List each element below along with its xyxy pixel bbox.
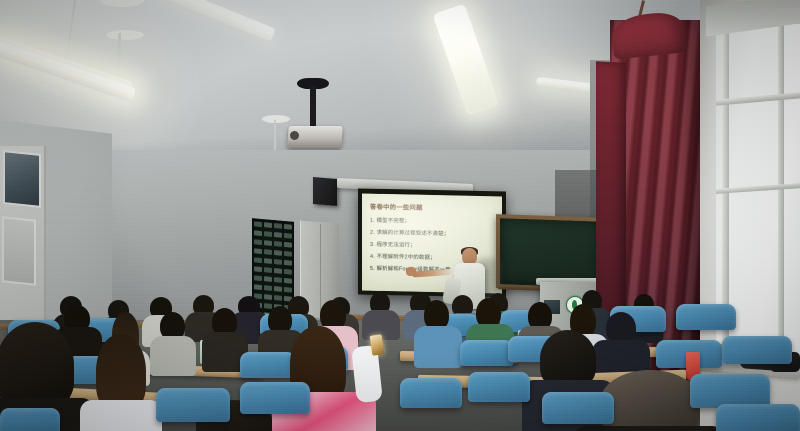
seat-front-7[interactable] xyxy=(716,404,800,431)
projector-pole xyxy=(310,86,316,128)
wall-speaker-left-icon xyxy=(313,177,337,206)
seat-mid-2[interactable] xyxy=(240,352,296,378)
light-ceiling-mount-2 xyxy=(106,30,144,40)
slide-item-1: 1. 模型不完整； xyxy=(370,215,498,226)
seat-mid-7[interactable] xyxy=(722,336,792,364)
smartphone-icon[interactable] xyxy=(370,334,385,355)
seat-front-2[interactable] xyxy=(240,382,310,414)
light-suspension-rod-2 xyxy=(118,33,121,71)
lecture-hall-photo: 答卷中的一些问题 1. 模型不完整； 2. 求解的计算过程叙述不清楚； 3. 程… xyxy=(0,0,800,431)
slide-item-2: 2. 求解的计算过程叙述不清楚； xyxy=(370,227,498,238)
lecturer-hand xyxy=(406,267,416,276)
student-torso xyxy=(574,426,724,431)
student-head xyxy=(0,322,74,408)
student-torso xyxy=(150,336,196,376)
student-torso xyxy=(80,400,162,431)
slide-title: 答卷中的一些问题 xyxy=(370,202,498,214)
seat-front-8[interactable] xyxy=(0,408,60,431)
door-window-pane xyxy=(3,150,41,208)
seat-front-3[interactable] xyxy=(400,378,462,408)
seat-front-6[interactable] xyxy=(690,374,770,408)
seat-back-7[interactable] xyxy=(676,304,736,330)
seat-front-4[interactable] xyxy=(468,372,530,402)
student-torso xyxy=(414,326,462,368)
light-ceiling-mount-3 xyxy=(262,115,290,123)
seat-mid-4[interactable] xyxy=(460,340,514,366)
door-lower-panel xyxy=(2,216,36,286)
projector-lens-icon xyxy=(290,131,299,140)
seat-front-5[interactable] xyxy=(542,392,614,424)
student-head-grey-hair xyxy=(600,370,700,431)
cabinet-door-seam xyxy=(320,224,321,316)
seat-front-1[interactable] xyxy=(156,388,230,422)
